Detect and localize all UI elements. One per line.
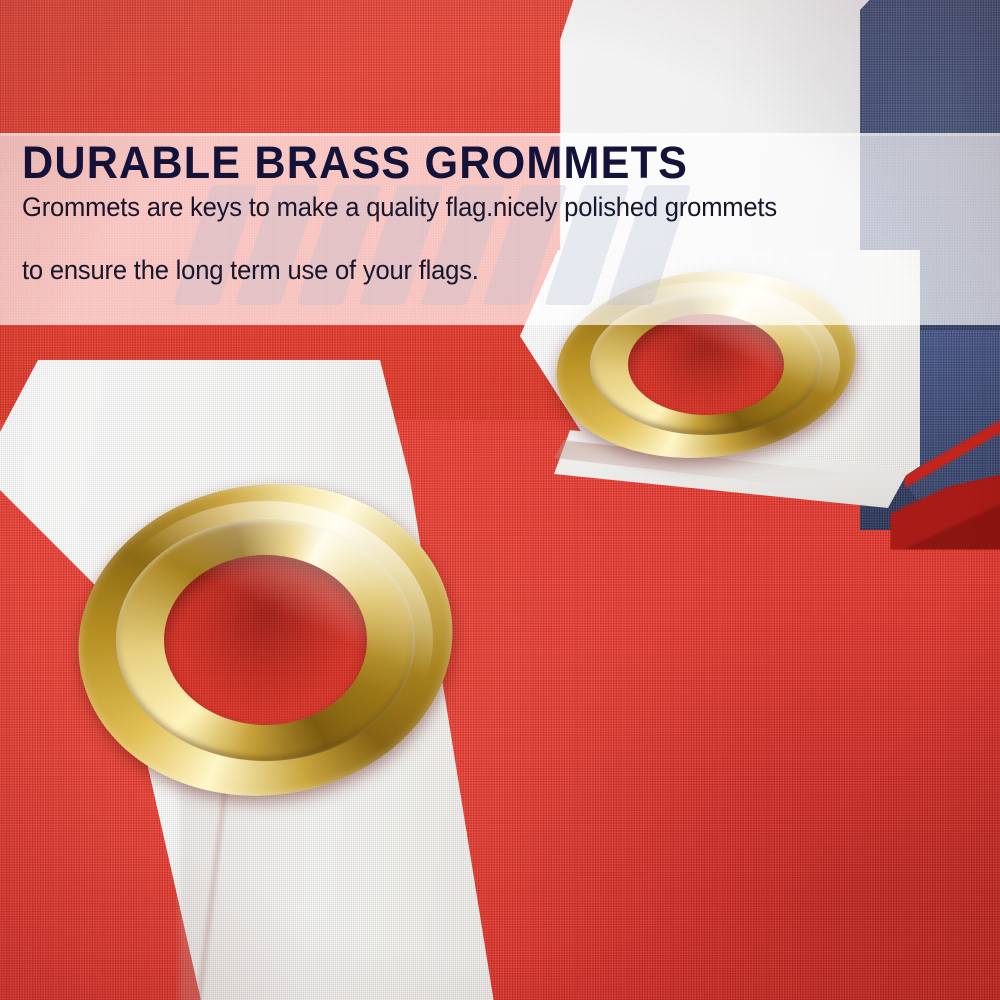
- product-image: DURABLE BRASS GROMMETS Grommets are keys…: [0, 0, 1000, 1000]
- banner-text-block: DURABLE BRASS GROMMETS Grommets are keys…: [0, 133, 1000, 283]
- grommet-bore: [164, 555, 367, 725]
- fabric-weave-texture: [628, 314, 784, 415]
- banner-heading: DURABLE BRASS GROMMETS: [22, 138, 961, 188]
- banner-body-line-2: to ensure the long term use of your flag…: [22, 257, 966, 284]
- fabric-weave-texture: [164, 555, 367, 725]
- grommet-bore: [628, 314, 784, 415]
- text-banner: DURABLE BRASS GROMMETS Grommets are keys…: [0, 133, 1000, 325]
- banner-body-line-1: Grommets are keys to make a quality flag…: [22, 194, 966, 221]
- grommet-large: [78, 485, 453, 795]
